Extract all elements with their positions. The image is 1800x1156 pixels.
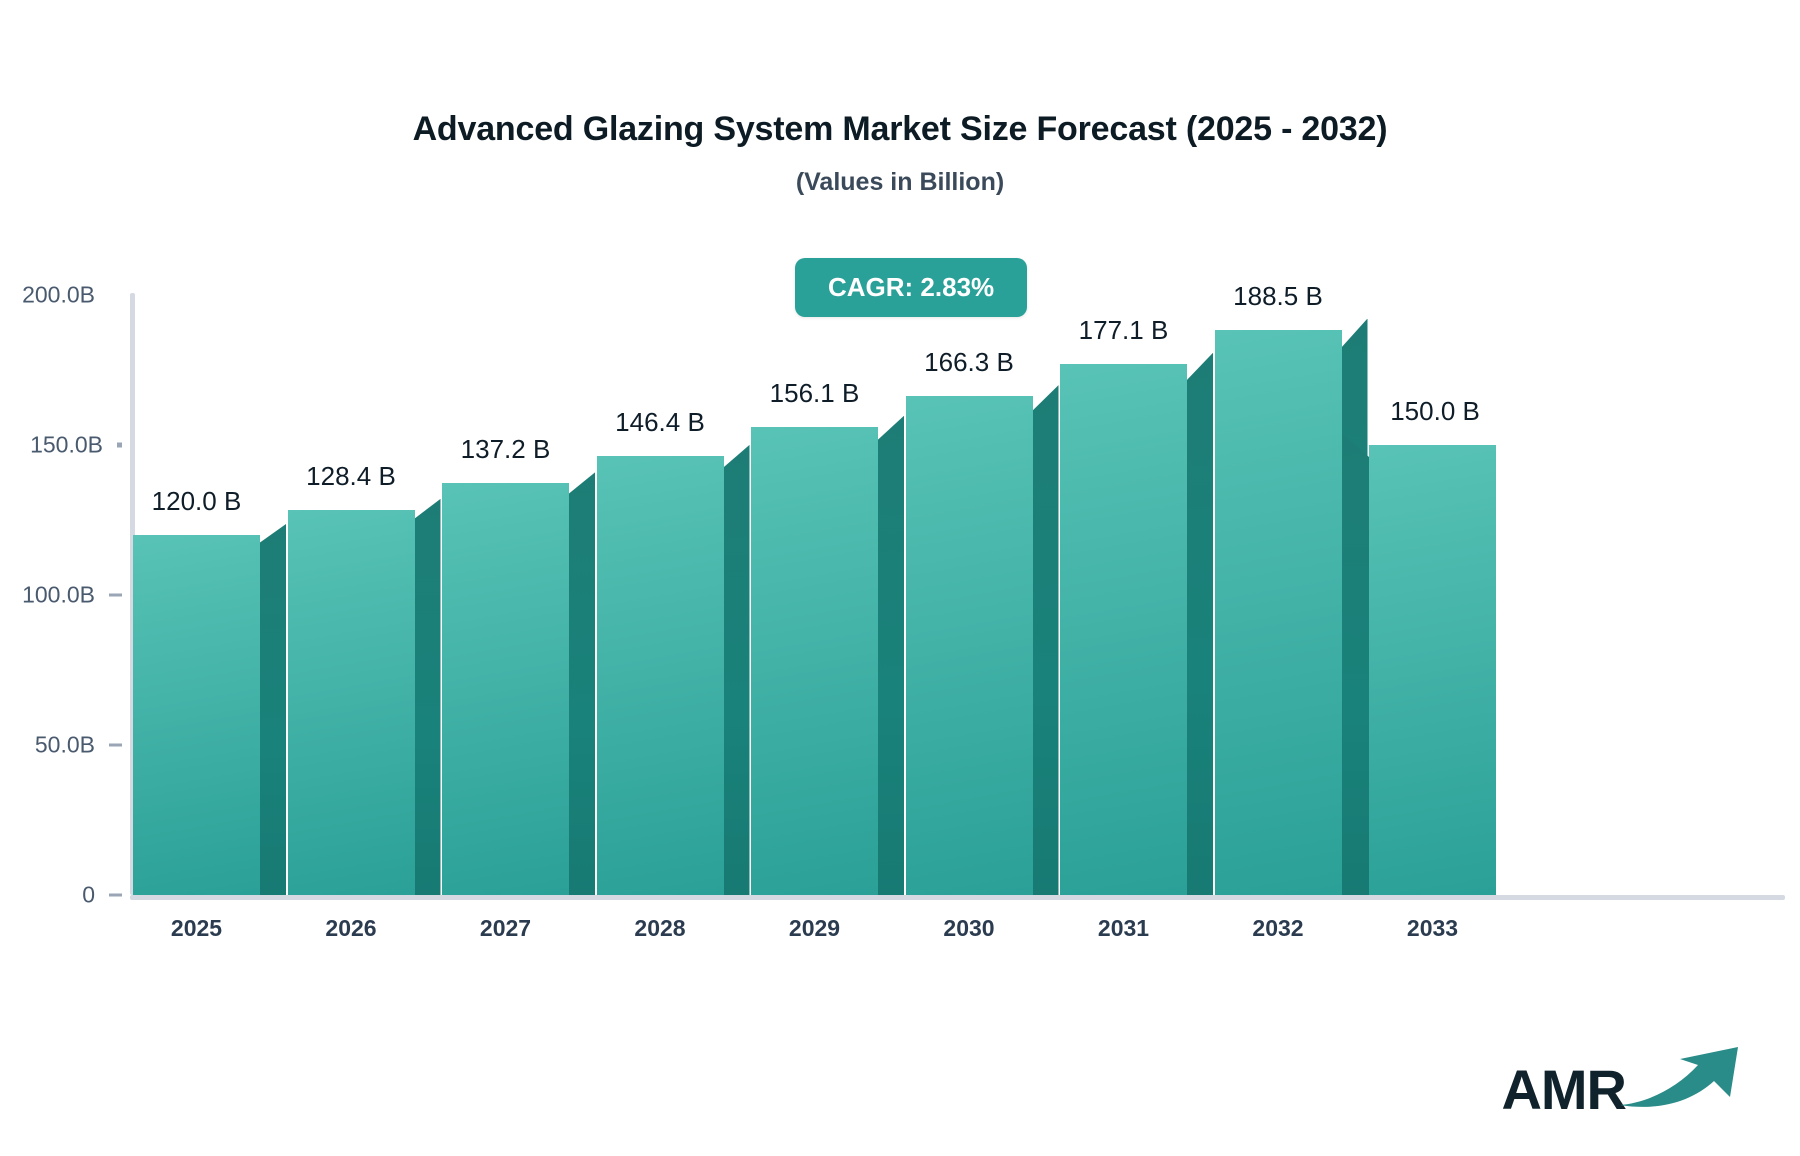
- x-axis-category-label: 2032: [1252, 915, 1303, 942]
- bar-value-label: 120.0 B: [152, 486, 242, 517]
- bar-3d: [288, 510, 415, 895]
- bar-front-face: [597, 456, 724, 895]
- chart-subtitle: (Values in Billion): [0, 168, 1800, 197]
- x-axis-category-label: 2028: [634, 915, 685, 942]
- x-axis-category-label: 2033: [1407, 915, 1458, 942]
- bar-column[interactable]: 128.4 B: [288, 0, 415, 895]
- y-axis-tick-mark: [117, 443, 122, 448]
- bar-3d: [906, 396, 1033, 895]
- bar-value-label: 177.1 B: [1079, 315, 1169, 346]
- growth-arrow-icon: [1618, 1045, 1748, 1114]
- bar-front-face: [442, 483, 569, 895]
- x-axis-category-label: 2030: [943, 915, 994, 942]
- y-axis-tick: 150.0B: [30, 432, 122, 459]
- bar-3d: [597, 456, 724, 895]
- bar-front-face: [288, 510, 415, 895]
- bar-column[interactable]: 188.5 B: [1215, 0, 1342, 895]
- bar-value-label: 188.5 B: [1233, 281, 1323, 312]
- y-axis-tick-mark: [109, 744, 122, 747]
- bar-value-label: 137.2 B: [461, 434, 551, 465]
- chart-canvas: Advanced Glazing System Market Size Fore…: [0, 0, 1800, 1156]
- bar-side-face: [724, 445, 750, 895]
- x-axis-category-label: 2025: [171, 915, 222, 942]
- y-axis-tick-mark: [109, 594, 122, 597]
- bar-3d: [1369, 445, 1496, 895]
- bar-3d: [751, 427, 878, 895]
- y-axis-tick-label: 100.0B: [22, 582, 95, 609]
- bar-value-label: 166.3 B: [924, 347, 1014, 378]
- bar-front-face: [751, 427, 878, 895]
- x-axis-category-label: 2027: [480, 915, 531, 942]
- bar-column[interactable]: 166.3 B: [906, 0, 1033, 895]
- bar-column[interactable]: 177.1 B: [1060, 0, 1187, 895]
- bar-side-face: [878, 416, 904, 895]
- bar-side-face: [569, 472, 595, 895]
- page-title: Advanced Glazing System Market Size Fore…: [0, 110, 1800, 149]
- y-axis-tick: 50.0B: [35, 732, 122, 759]
- y-axis-tick-label: 150.0B: [30, 432, 103, 459]
- x-axis-category-label: 2026: [325, 915, 376, 942]
- bar-value-label: 128.4 B: [306, 461, 396, 492]
- bar-value-label: 156.1 B: [770, 378, 860, 409]
- x-axis-category-label: 2031: [1098, 915, 1149, 942]
- bar-value-label: 146.4 B: [615, 407, 705, 438]
- bar-column[interactable]: 156.1 B: [751, 0, 878, 895]
- bar-value-label: 150.0 B: [1390, 396, 1480, 427]
- bar-side-face: [1033, 385, 1059, 895]
- amr-logo: AMR: [1501, 1045, 1748, 1118]
- bar-front-face: [1369, 445, 1496, 895]
- bar-side-face: [1343, 434, 1369, 895]
- bar-3d: [133, 535, 260, 895]
- y-axis: 200.0B150.0B100.0B50.0B0: [0, 0, 122, 1156]
- bar-3d: [1215, 330, 1342, 896]
- y-axis-tick: 100.0B: [22, 582, 122, 609]
- bar-3d: [442, 483, 569, 895]
- bar-front-face: [133, 535, 260, 895]
- bar-side-face: [1187, 353, 1213, 895]
- bar-column[interactable]: 137.2 B: [442, 0, 569, 895]
- y-axis-tick-mark: [109, 894, 122, 897]
- y-axis-tick-label: 50.0B: [35, 732, 95, 759]
- bar-column[interactable]: 120.0 B: [133, 0, 260, 895]
- x-axis-category-label: 2029: [789, 915, 840, 942]
- bar-front-face: [1060, 364, 1187, 895]
- y-axis-tick: 0: [82, 882, 122, 909]
- bar-front-face: [906, 396, 1033, 895]
- y-axis-tick-label: 0: [82, 882, 95, 909]
- bar-column[interactable]: 146.4 B: [597, 0, 724, 895]
- bar-column[interactable]: 150.0 B: [1369, 0, 1496, 895]
- bar-front-face: [1215, 330, 1342, 896]
- amr-wordmark: AMR: [1501, 1062, 1626, 1118]
- y-axis-tick: 200.0B: [22, 282, 122, 309]
- bar-side-face: [415, 499, 441, 895]
- bar-side-face: [260, 524, 286, 895]
- bar-3d: [1060, 364, 1187, 895]
- y-axis-tick-label: 200.0B: [22, 282, 95, 309]
